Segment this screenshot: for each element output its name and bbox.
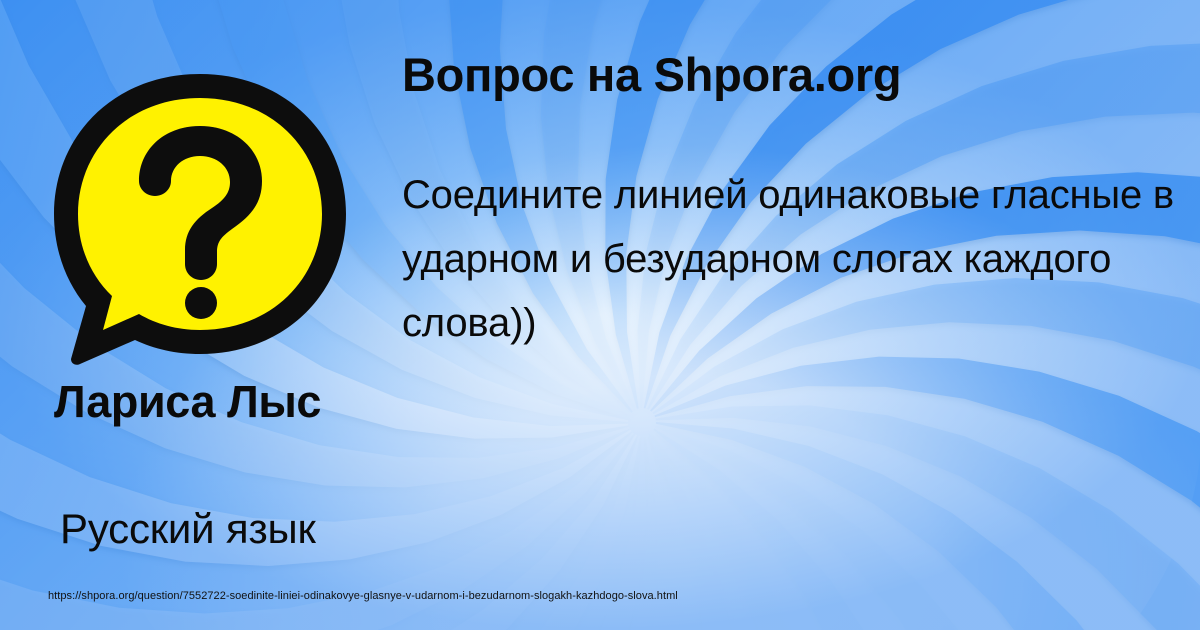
question-mark-dot xyxy=(185,287,217,319)
subject-label: Русский язык xyxy=(60,505,316,553)
page-title: Вопрос на Shpora.org xyxy=(402,47,901,102)
question-text: Соедините линией одинаковые гласные в уд… xyxy=(402,163,1200,355)
question-speech-bubble-icon xyxy=(40,68,360,368)
source-url[interactable]: https://shpora.org/question/7552722-soed… xyxy=(48,590,678,602)
question-share-card: Вопрос на Shpora.org Соедините линией од… xyxy=(0,0,1200,630)
author-name: Лариса Лыс xyxy=(54,377,394,427)
